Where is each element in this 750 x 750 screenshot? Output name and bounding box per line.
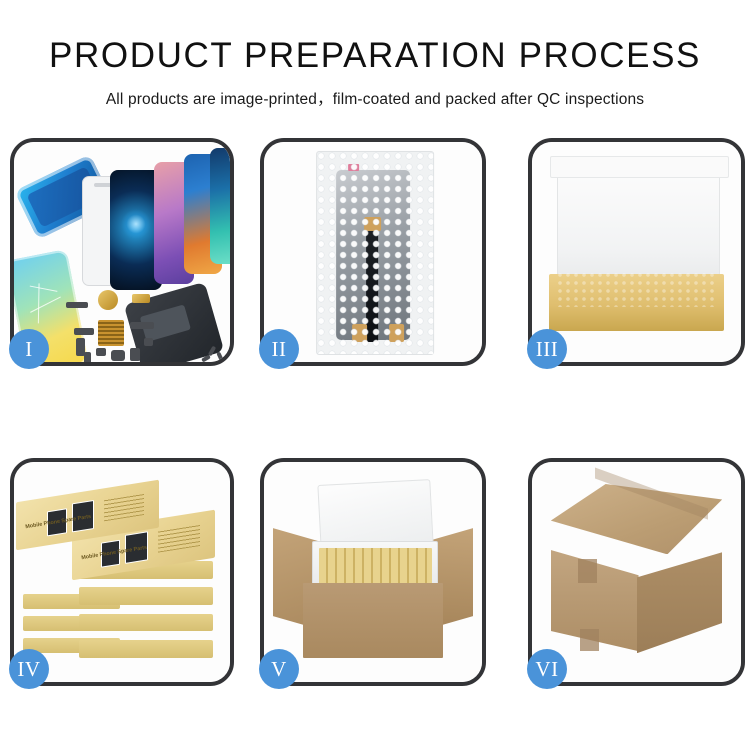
step-badge-4: IV xyxy=(9,649,49,689)
bubble-texture xyxy=(318,152,434,355)
step-image-1 xyxy=(14,142,230,362)
flex-cable-gold xyxy=(132,294,150,303)
carton-top-face xyxy=(551,484,722,554)
steps-grid: I II I xyxy=(10,138,745,678)
component-grid xyxy=(98,320,124,346)
product-preparation-infographic: PRODUCT PREPARATION PROCESS All products… xyxy=(0,0,750,750)
box-side-r2 xyxy=(79,587,213,605)
step-image-4: Mobile Phone Spare Parts Mobile Phone Sp… xyxy=(14,462,230,682)
header: PRODUCT PREPARATION PROCESS All products… xyxy=(0,0,750,109)
page-title: PRODUCT PREPARATION PROCESS xyxy=(0,38,750,73)
step-image-5 xyxy=(264,462,482,682)
step-image-2 xyxy=(264,142,482,362)
small-part-1 xyxy=(96,348,106,356)
white-box-lid xyxy=(557,160,720,288)
tape-strip-lower xyxy=(580,629,599,651)
grey-bubble-foam xyxy=(557,272,716,307)
page-subtitle: All products are image-printed，film-coat… xyxy=(0,87,750,109)
carton-right-face xyxy=(637,552,723,653)
step-panel-4[interactable]: Mobile Phone Spare Parts Mobile Phone Sp… xyxy=(10,458,234,686)
box-text-lines-b xyxy=(105,491,145,521)
step-panel-2[interactable]: II xyxy=(260,138,486,366)
step-badge-1: I xyxy=(9,329,49,369)
sim-tray xyxy=(84,352,91,362)
box-side-r3 xyxy=(79,614,213,632)
flex-cable-4 xyxy=(130,322,154,329)
step-badge-2: II xyxy=(259,329,299,369)
flex-cable-2 xyxy=(74,328,94,335)
step-panel-3[interactable]: III xyxy=(528,138,745,366)
step-panel-6[interactable]: VI xyxy=(528,458,745,686)
box-side-r4 xyxy=(79,640,213,658)
step-image-3 xyxy=(532,142,741,362)
step-panel-5[interactable]: V xyxy=(260,458,486,686)
carton-body xyxy=(303,583,443,658)
bubble-wrap-bag xyxy=(317,151,435,356)
flex-cable-1 xyxy=(66,302,88,308)
speaker-module xyxy=(98,290,118,310)
step-badge-3: III xyxy=(527,329,567,369)
step-badge-6: VI xyxy=(527,649,567,689)
camera-module xyxy=(130,348,140,361)
step-panel-1[interactable]: I xyxy=(10,138,234,366)
screw-2 xyxy=(216,352,223,362)
small-part-2 xyxy=(144,338,153,346)
step-image-6 xyxy=(532,462,741,682)
box-text-lines-a xyxy=(158,523,201,553)
tape-strip-upper xyxy=(578,559,597,583)
foam-box-lid xyxy=(317,479,434,551)
step-badge-5: V xyxy=(259,649,299,689)
phone-screen-teal xyxy=(210,148,230,264)
vibration-motor xyxy=(111,350,125,361)
